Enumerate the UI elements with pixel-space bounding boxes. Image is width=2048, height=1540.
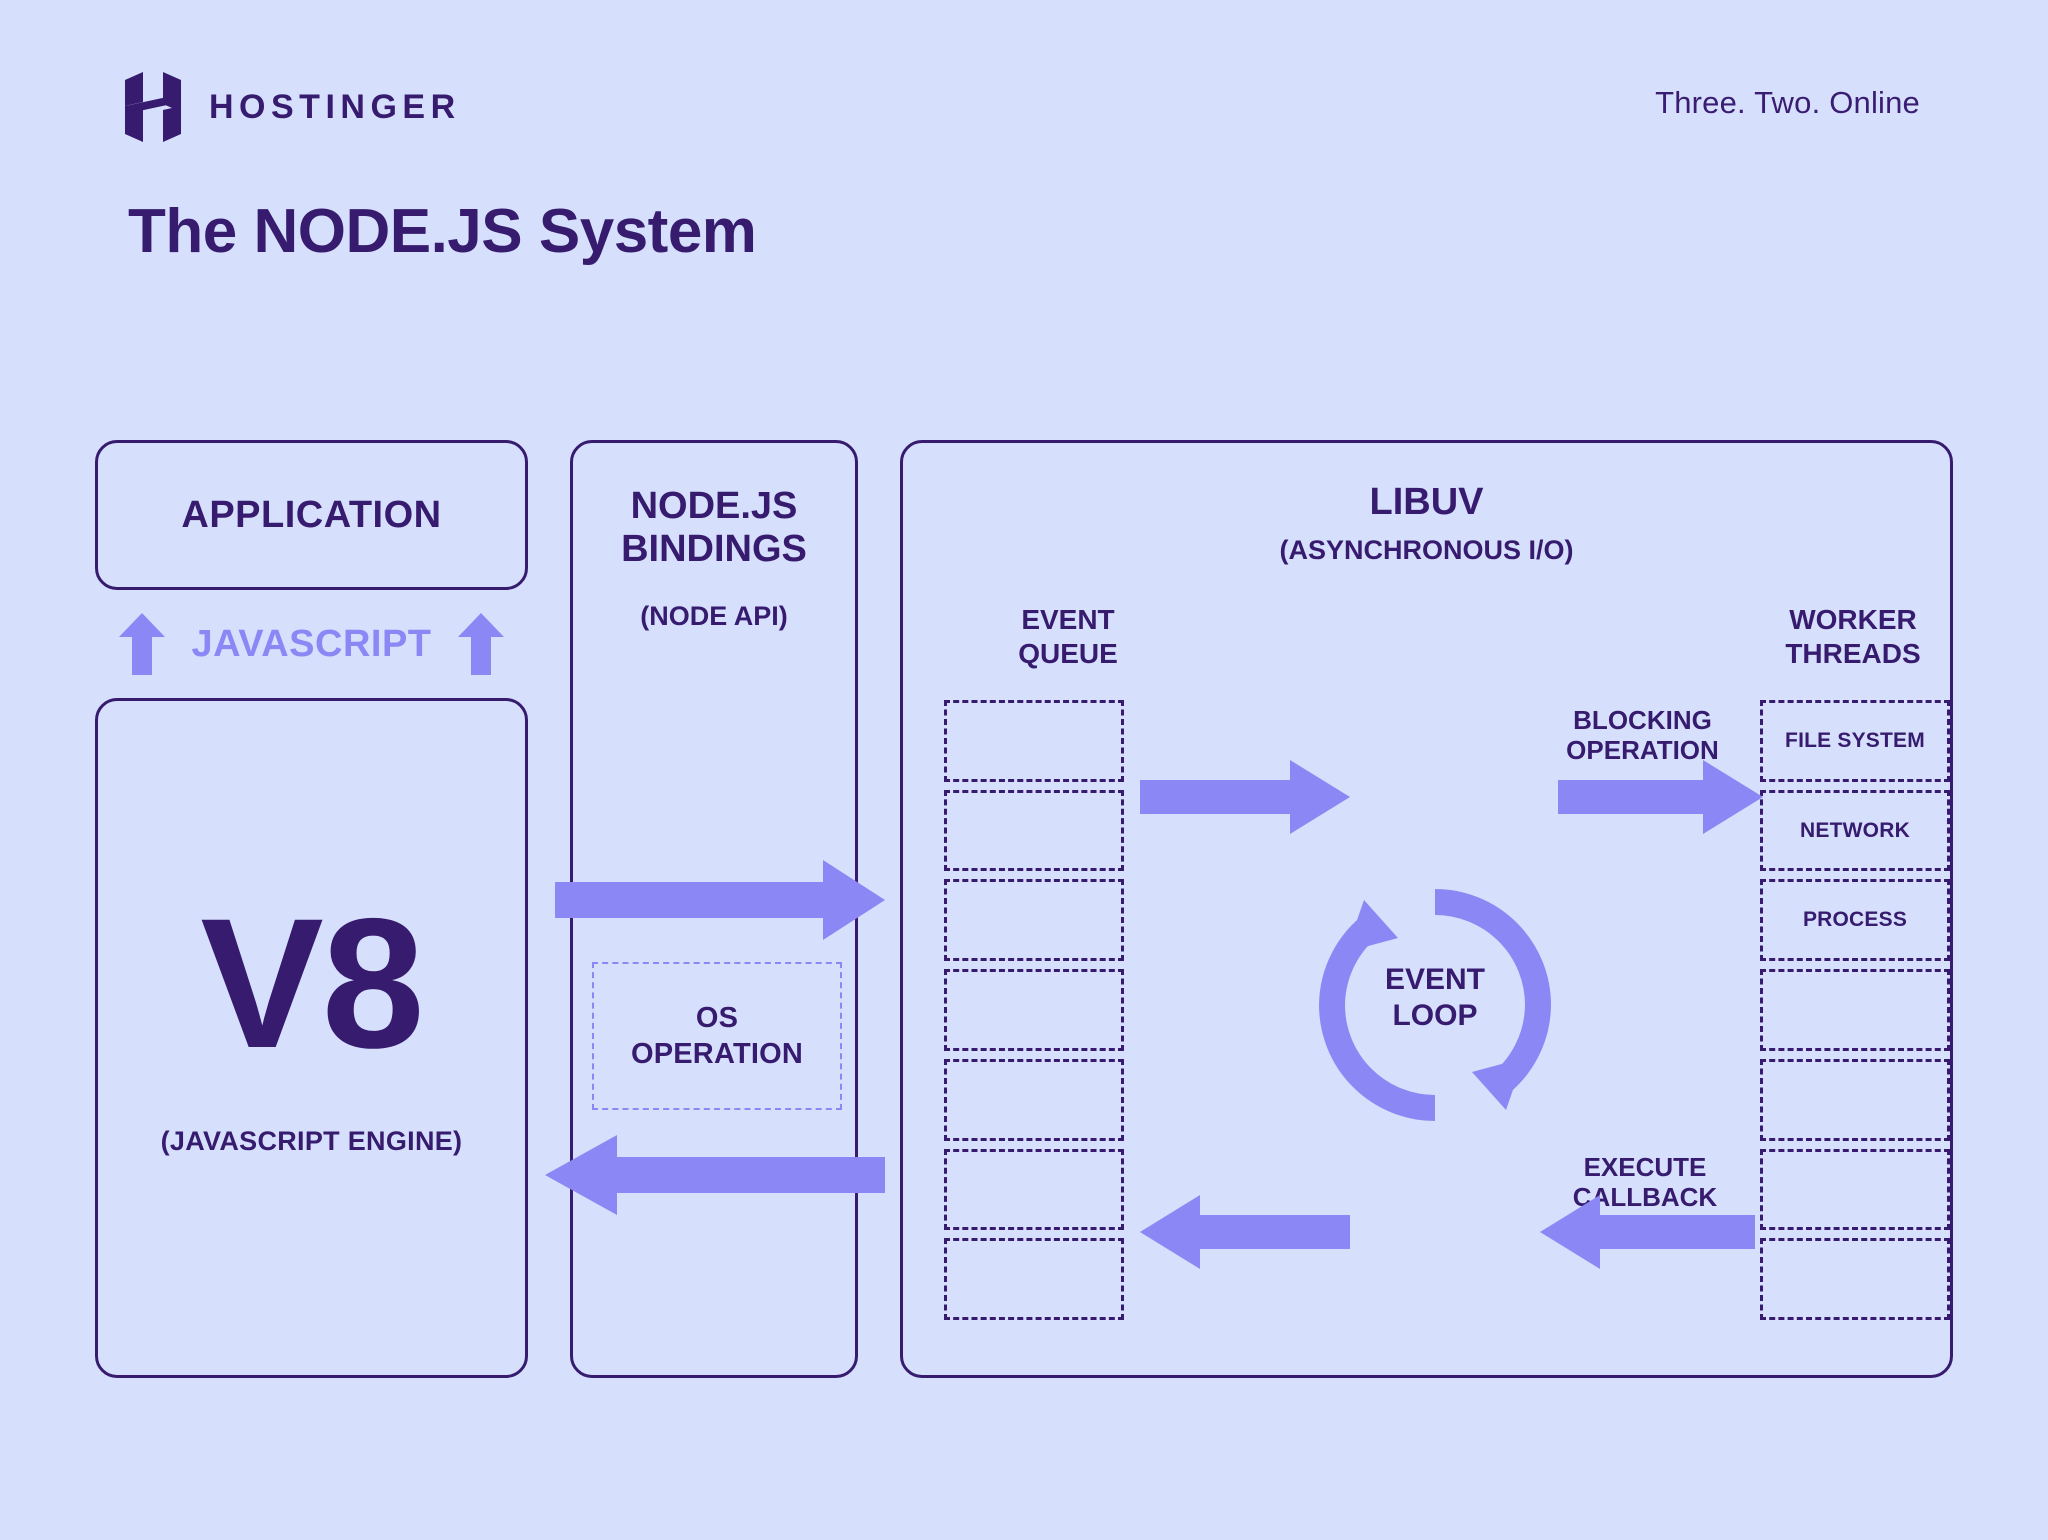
javascript-label: JAVASCRIPT <box>191 623 431 666</box>
worker-threads-label: WORKER THREADS <box>1753 603 1953 670</box>
os-operation-box: OS OPERATION <box>592 962 842 1110</box>
libuv-title: LIBUV <box>903 481 1950 524</box>
arrow-left-icon <box>1140 1195 1350 1269</box>
worker-threads-stack: FILE SYSTEMNETWORKPROCESS <box>1760 700 1950 1320</box>
worker-thread-cell-label: PROCESS <box>1803 908 1907 932</box>
worker-thread-cell <box>1760 1238 1950 1320</box>
worker-thread-cell-label: NETWORK <box>1800 819 1910 843</box>
v8-box: V8 (JAVASCRIPT ENGINE) <box>95 698 528 1378</box>
event-queue-cell <box>944 969 1124 1051</box>
javascript-link-row: JAVASCRIPT <box>95 610 528 678</box>
event-queue-stack <box>944 700 1124 1320</box>
worker-threads-label-line1: WORKER <box>1753 603 1953 637</box>
event-queue-cell <box>944 1238 1124 1320</box>
arrow-left-icon <box>545 1135 885 1215</box>
arrow-right-icon <box>1140 760 1350 834</box>
event-loop-label: EVENT LOOP <box>1310 962 1560 1034</box>
bindings-title-line2: BINDINGS <box>573 528 855 571</box>
worker-thread-cell: PROCESS <box>1760 879 1950 961</box>
v8-label: V8 <box>98 901 525 1068</box>
blocking-operation-label: BLOCKING OPERATION <box>1535 705 1750 765</box>
libuv-subtitle: (ASYNCHRONOUS I/O) <box>903 535 1950 566</box>
worker-thread-cell: FILE SYSTEM <box>1760 700 1950 782</box>
event-queue-cell <box>944 879 1124 961</box>
arrow-up-icon <box>119 613 165 675</box>
v8-caption: (JAVASCRIPT ENGINE) <box>98 1126 525 1157</box>
event-queue-cell <box>944 1059 1124 1141</box>
event-queue-label: EVENT QUEUE <box>968 603 1168 670</box>
event-queue-label-line1: EVENT <box>968 603 1168 637</box>
hostinger-wordmark: HOSTINGER <box>209 90 461 124</box>
worker-thread-cell <box>1760 969 1950 1051</box>
hostinger-logo[interactable]: HOSTINGER <box>125 72 461 142</box>
application-box: APPLICATION <box>95 440 528 590</box>
event-queue-cell <box>944 700 1124 782</box>
application-label: APPLICATION <box>181 494 441 537</box>
execute-callback-line1: EXECUTE <box>1540 1152 1750 1182</box>
event-queue-label-line2: QUEUE <box>968 637 1168 671</box>
event-loop-line1: EVENT <box>1310 962 1560 998</box>
brand-tagline: Three. Two. Online <box>1655 85 1920 121</box>
nodejs-bindings-title: NODE.JS BINDINGS <box>573 485 855 570</box>
arrow-up-icon <box>458 613 504 675</box>
page-header: HOSTINGER Three. Two. Online <box>0 0 2048 190</box>
worker-thread-cell: NETWORK <box>1760 790 1950 872</box>
blocking-operation-line1: BLOCKING <box>1535 705 1750 735</box>
event-queue-cell <box>944 1149 1124 1231</box>
nodejs-bindings-subtitle: (NODE API) <box>573 601 855 632</box>
arrow-right-icon <box>1558 760 1763 834</box>
worker-thread-cell <box>1760 1059 1950 1141</box>
event-loop-line2: LOOP <box>1310 998 1560 1034</box>
hostinger-h-logo-icon <box>125 72 181 142</box>
worker-thread-cell <box>1760 1149 1950 1231</box>
bindings-title-line1: NODE.JS <box>573 485 855 528</box>
arrow-right-icon <box>555 860 885 940</box>
worker-threads-label-line2: THREADS <box>1753 637 1953 671</box>
os-operation-line2: OPERATION <box>631 1036 803 1072</box>
event-queue-cell <box>944 790 1124 872</box>
arrow-left-icon <box>1540 1195 1755 1269</box>
page-title: The NODE.JS System <box>128 196 756 267</box>
os-operation-line1: OS <box>696 1000 738 1036</box>
worker-thread-cell-label: FILE SYSTEM <box>1785 729 1925 753</box>
